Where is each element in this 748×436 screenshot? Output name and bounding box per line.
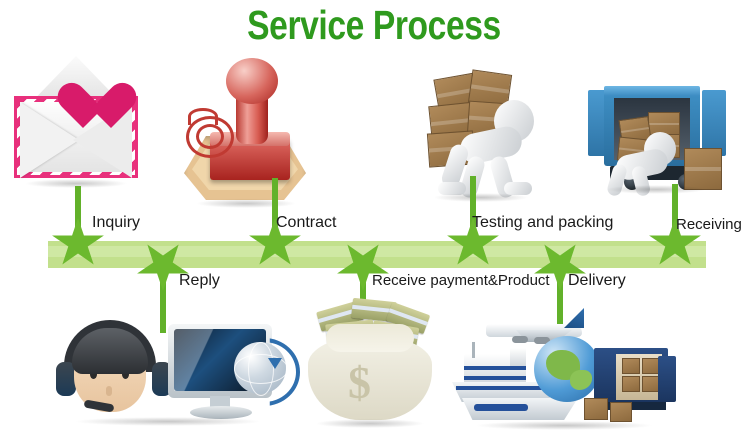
heart-icon [58, 84, 110, 132]
stamp-knob [226, 58, 278, 104]
step-label-reply: Reply [179, 272, 220, 290]
ship-mast [472, 342, 475, 358]
dollar-sign-icon: $ [348, 356, 371, 409]
ship-funnel [510, 348, 526, 366]
airplane-tail [564, 308, 584, 328]
icon-shadow [74, 417, 261, 426]
truck-door-right [702, 90, 726, 156]
step-label-inquiry: Inquiry [92, 214, 140, 232]
stamp-mark-arc [188, 108, 218, 125]
ship-stripe [464, 366, 526, 370]
globe-icon [228, 336, 292, 400]
globe-icon [534, 336, 602, 404]
page-title: Service Process [67, 2, 680, 49]
yacht-stripe [474, 404, 528, 411]
ship-stripe [464, 376, 526, 380]
money-bag-icon: $ [300, 298, 440, 424]
cardboard-box [622, 358, 640, 374]
cardboard-box [622, 376, 640, 392]
cardboard-box-ground [610, 402, 632, 422]
truck-chassis [598, 402, 666, 410]
truck-roof-rail [604, 86, 700, 96]
step-label-receiving: Receiving [676, 216, 742, 233]
customer-service-agent-icon [48, 310, 288, 422]
envelope-letter-icon [10, 62, 142, 184]
money-sack-neck [326, 324, 414, 352]
truck-loading-icon [592, 78, 720, 190]
globe-arrow-head [268, 358, 282, 369]
stamp-mark-inner [196, 124, 224, 149]
step-label-contract: Contract [276, 214, 336, 232]
step-label-testing-and-packing: Testing and packing [472, 214, 613, 232]
cardboard-box-ground [584, 398, 608, 420]
service-process-infographic: Service Process [0, 0, 748, 436]
logistics-transport-icon [450, 300, 678, 426]
icon-shadow [315, 419, 424, 428]
agent-nose [106, 386, 112, 396]
delivery-truck-icon [594, 348, 678, 420]
icon-shadow [475, 421, 653, 430]
step-label-receive-payment-product: Receive payment&Product [372, 272, 550, 289]
airplane-engine [512, 336, 528, 343]
truck-door-open [658, 356, 676, 402]
step-label-delivery: Delivery [568, 272, 626, 290]
